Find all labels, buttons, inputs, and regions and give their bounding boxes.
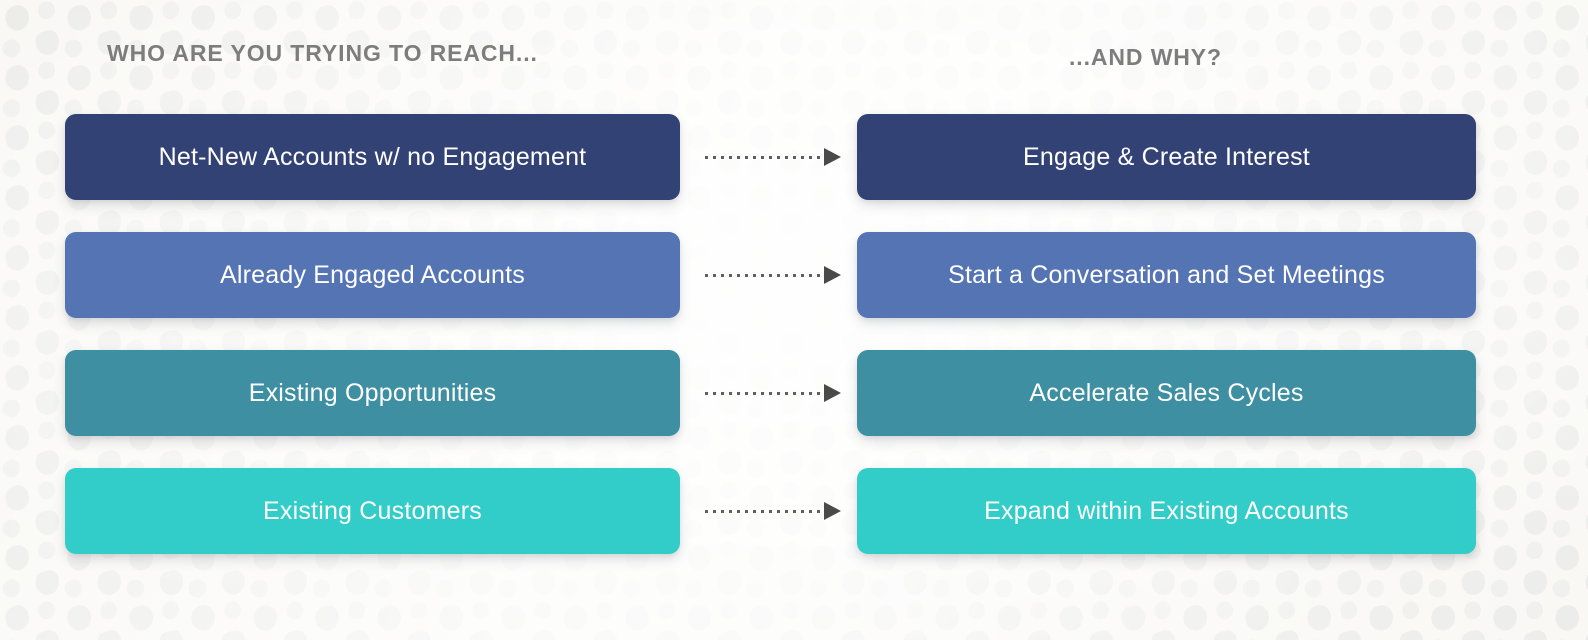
goal-box[interactable]: Engage & Create Interest <box>857 114 1476 200</box>
audience-box[interactable]: Net-New Accounts w/ no Engagement <box>65 114 680 200</box>
mapping-row: Net-New Accounts w/ no Engagement Engage… <box>0 114 1588 200</box>
mapping-rows: Net-New Accounts w/ no Engagement Engage… <box>0 114 1588 554</box>
goal-box[interactable]: Start a Conversation and Set Meetings <box>857 232 1476 318</box>
diagram-canvas: WHO ARE YOU TRYING TO REACH... ...AND WH… <box>0 0 1588 640</box>
connector-arrowhead <box>824 384 841 402</box>
connector-arrowhead <box>824 148 841 166</box>
goal-box[interactable]: Accelerate Sales Cycles <box>857 350 1476 436</box>
connector-line <box>705 392 825 395</box>
connector-line <box>705 510 825 513</box>
dotted-arrow-right-icon <box>705 501 841 521</box>
dotted-arrow-right-icon <box>705 147 841 167</box>
mapping-row: Existing Opportunities Accelerate Sales … <box>0 350 1588 436</box>
dotted-arrow-right-icon <box>705 265 841 285</box>
connector-line <box>705 274 825 277</box>
audience-box[interactable]: Existing Customers <box>65 468 680 554</box>
audience-box[interactable]: Existing Opportunities <box>65 350 680 436</box>
goal-box[interactable]: Expand within Existing Accounts <box>857 468 1476 554</box>
connector-arrowhead <box>824 266 841 284</box>
mapping-row: Already Engaged Accounts Start a Convers… <box>0 232 1588 318</box>
page-title-audience: WHO ARE YOU TRYING TO REACH... <box>107 40 538 67</box>
dotted-arrow-right-icon <box>705 383 841 403</box>
mapping-row: Existing Customers Expand within Existin… <box>0 468 1588 554</box>
page-title-goal: ...AND WHY? <box>1069 44 1222 71</box>
connector-arrowhead <box>824 502 841 520</box>
connector-line <box>705 156 825 159</box>
audience-box[interactable]: Already Engaged Accounts <box>65 232 680 318</box>
